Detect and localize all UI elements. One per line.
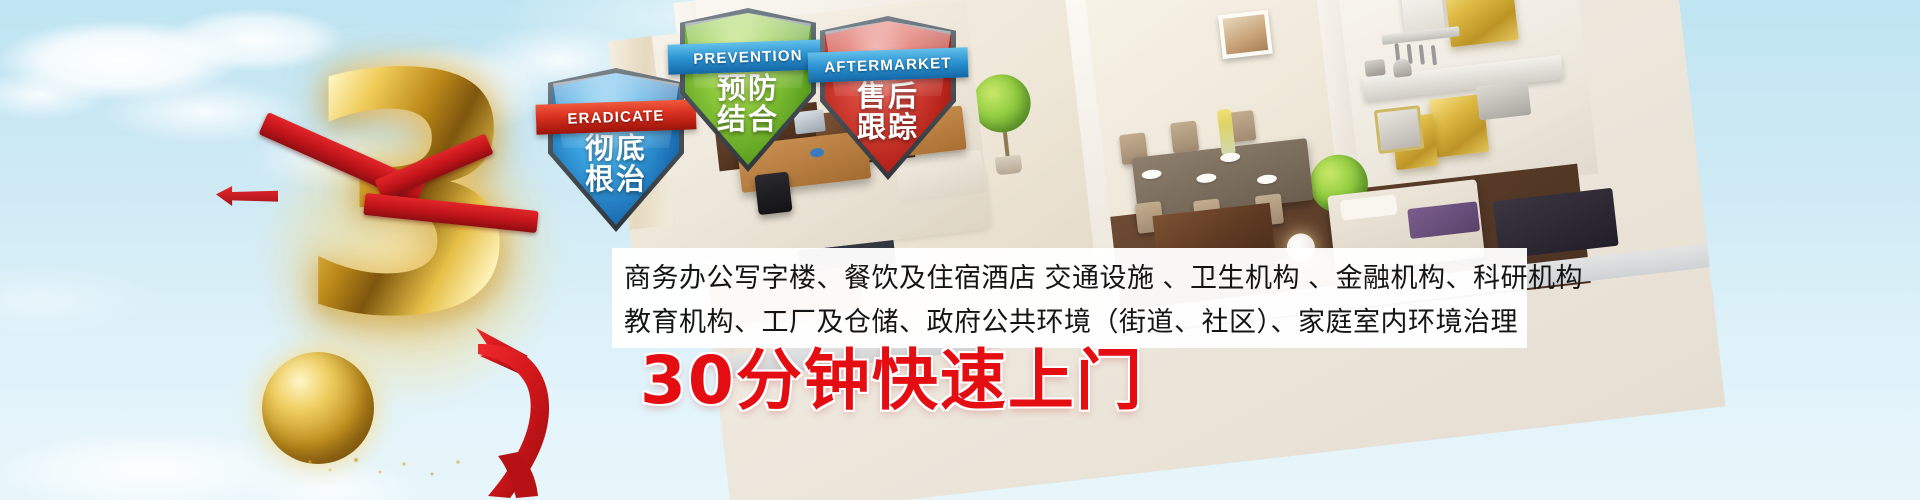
badge-cn-line1: 彻底 [548, 134, 684, 165]
gold-dust-particles [300, 456, 480, 482]
badge-eradicate[interactable]: 彻底 根治 ERADICATE [548, 68, 684, 232]
cookware [1364, 59, 1386, 77]
badge-cn-text: 售后 跟踪 [820, 82, 956, 145]
service-scope-panel: 商务办公写字楼、餐饮及住宿酒店 交通设施 、卫生机构 、金融机构、科研机构 教育… [612, 248, 1527, 348]
kitchen-sink [1476, 81, 1532, 121]
badge-cn-text: 彻底 根治 [548, 134, 684, 197]
badge-aftermarket[interactable]: 售后 跟踪 AFTERMARKET [820, 16, 956, 180]
service-scope-line-1: 商务办公写字楼、餐饮及住宿酒店 交通设施 、卫生机构 、金融机构、科研机构 [624, 256, 1527, 300]
office-chair [754, 172, 792, 216]
badge-cn-line1: 售后 [820, 82, 956, 113]
badge-en-ribbon: AFTERMARKET [808, 47, 969, 83]
oven [1374, 105, 1425, 154]
badge-cn-text: 预防 结合 [680, 74, 816, 137]
gold-sphere [262, 352, 374, 464]
badge-en-ribbon: ERADICATE [536, 99, 697, 135]
promo-banner: 3 彻底 根治 ERADICATE [0, 0, 1920, 500]
badge-cn-line2: 跟踪 [820, 113, 956, 144]
badge-prevention[interactable]: 预防 结合 PREVENTION [680, 8, 816, 172]
badge-en-ribbon: PREVENTION [668, 39, 829, 75]
service-scope-line-2: 教育机构、工厂及仓储、政府公共环境（街道、社区）、家庭室内环境治理 [624, 300, 1527, 344]
dining-chair [1170, 121, 1199, 154]
badge-cn-line1: 预防 [680, 74, 816, 105]
dining-wall-painting [1218, 10, 1273, 59]
badge-cn-line2: 根治 [548, 165, 684, 196]
headline-text: 30分钟快速上门 [640, 348, 1144, 414]
badge-cn-line2: 结合 [680, 105, 816, 136]
kitchen-upper-cabinet [1444, 0, 1518, 47]
